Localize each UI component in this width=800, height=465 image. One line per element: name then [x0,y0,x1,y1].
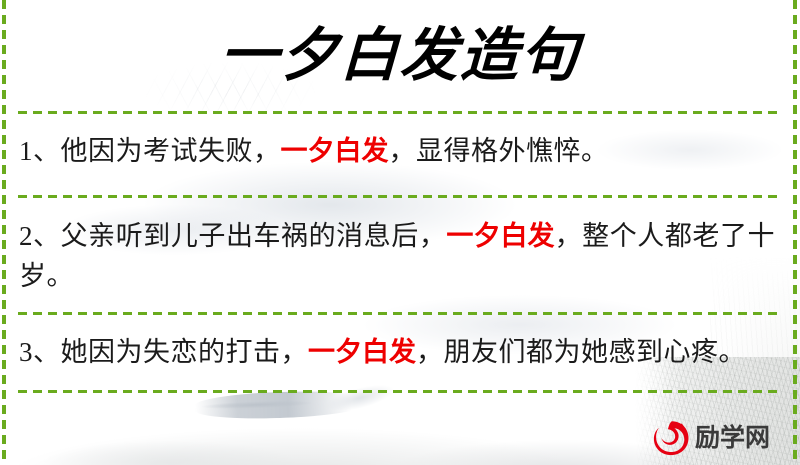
example-sentence-2: 2、父亲听到儿子出车祸的消息后，一夕白发，整个人都老了十岁。 [19,216,775,296]
dashed-separator-4 [18,390,782,393]
sentence-3-prefix: 3、她因为失恋的打击， [19,337,308,367]
brand-name: 励学网 [695,424,770,452]
red-swirl-flame-icon [652,419,690,457]
sentence-1-suffix: ，显得格外憔悴。 [389,136,609,166]
sentence-2-idiom: 一夕白发 [446,221,554,251]
ink-boat-sail-watermark [308,371,412,424]
sentence-2-prefix: 2、父亲听到儿子出车祸的消息后， [19,221,446,251]
dashed-separator-2 [18,195,782,198]
page-title: 一夕白发造句 [0,18,800,94]
sentence-1-idiom: 一夕白发 [281,136,389,166]
dashed-separator-3 [18,312,782,315]
brand-watermark: 励学网 [652,418,792,458]
dashed-separator-1 [18,111,782,114]
page-root: 一夕白发造句 1、他因为考试失败，一夕白发，显得格外憔悴。 2、父亲听到儿子出车… [0,0,800,465]
example-sentence-1: 1、他因为考试失败，一夕白发，显得格外憔悴。 [19,131,775,171]
sentence-1-prefix: 1、他因为考试失败， [19,136,281,166]
sentence-3-idiom: 一夕白发 [308,337,416,367]
ink-boat-watermark [195,389,366,421]
example-sentence-3: 3、她因为失恋的打击，一夕白发，朋友们都为她感到心疼。 [19,332,775,372]
sentence-3-suffix: ，朋友们都为她感到心疼。 [416,337,746,367]
